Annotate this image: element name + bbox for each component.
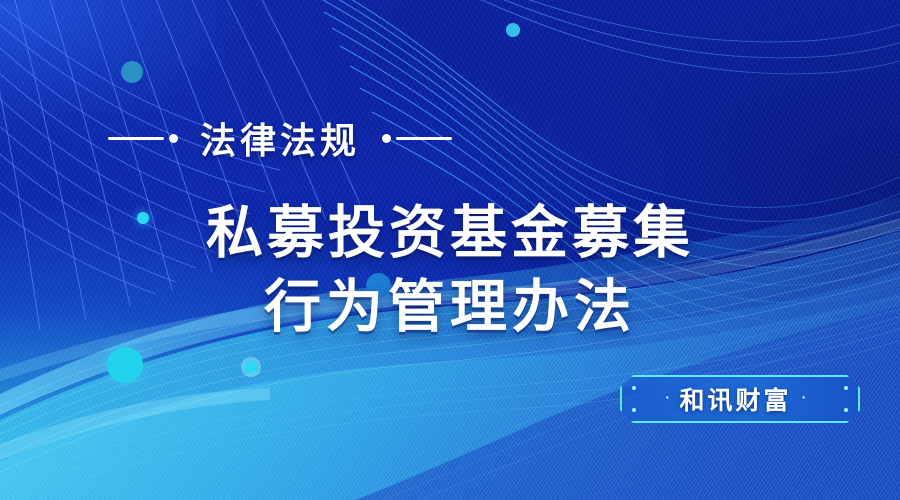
title-line-2: 行为管理办法 — [0, 270, 900, 344]
brand-name: 和讯财富 — [679, 381, 791, 417]
content-layer: 法律法规 私募投资基金募集 行为管理办法 · 和讯财富 · — [0, 0, 900, 500]
page-title: 私募投资基金募集 行为管理办法 — [0, 196, 900, 344]
title-line-1: 私募投资基金募集 — [0, 196, 900, 270]
line-dot-ornament-left-icon — [108, 134, 178, 143]
eyebrow-row: 法律法规 — [0, 112, 560, 164]
badge-separator-left: · — [664, 388, 670, 407]
category-label: 法律法规 — [200, 112, 360, 164]
badge-separator-right: · — [801, 388, 807, 407]
banner-root: 法律法规 私募投资基金募集 行为管理办法 · 和讯财富 · — [0, 0, 900, 500]
dot-line-ornament-right-icon — [382, 134, 452, 143]
brand-badge[interactable]: · 和讯财富 · — [620, 375, 860, 423]
